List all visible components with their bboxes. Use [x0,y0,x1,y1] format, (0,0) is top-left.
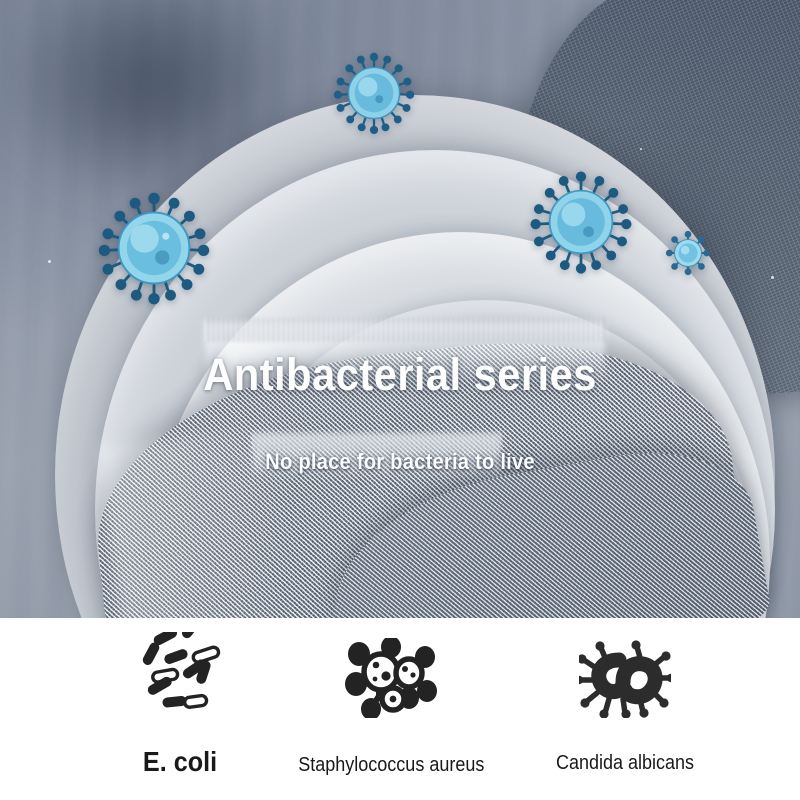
pathogen-item-ecoli[interactable]: E. coli [80,632,280,778]
virus-particle-right [527,168,635,276]
photo-speck [48,260,51,263]
pathogen-panel: E. coli [0,618,800,800]
staphylococcus-cluster-icon [345,638,437,718]
pathogen-label-ecoli: E. coli [90,746,270,778]
hero-title: Antibacterial series [28,349,772,401]
pathogen-label-staphylococcus: Staphylococcus aureus [298,754,483,777]
virus-particle-left [95,189,213,307]
title-backdrop-ribbing [205,318,605,342]
subtitle-backdrop-ribbing [253,432,501,450]
photo-speck [640,148,642,150]
pathogen-item-candida[interactable]: Candida albicans [520,640,730,775]
ecoli-rods-icon [132,632,228,718]
pathogen-label-candida: Candida albicans [531,752,720,775]
hero-photo: Antibacterial series No place for bacter… [0,0,800,618]
candida-spiral-icon [579,640,671,718]
pathogen-item-staphylococcus[interactable]: Staphylococcus aureus [288,638,493,777]
virus-particle-top [330,49,418,137]
photo-speck [771,276,774,279]
hero-subtitle: No place for bacteria to live [32,449,768,475]
virus-particle-small [664,229,712,277]
antibacterial-series-banner: Antibacterial series No place for bacter… [0,0,800,800]
